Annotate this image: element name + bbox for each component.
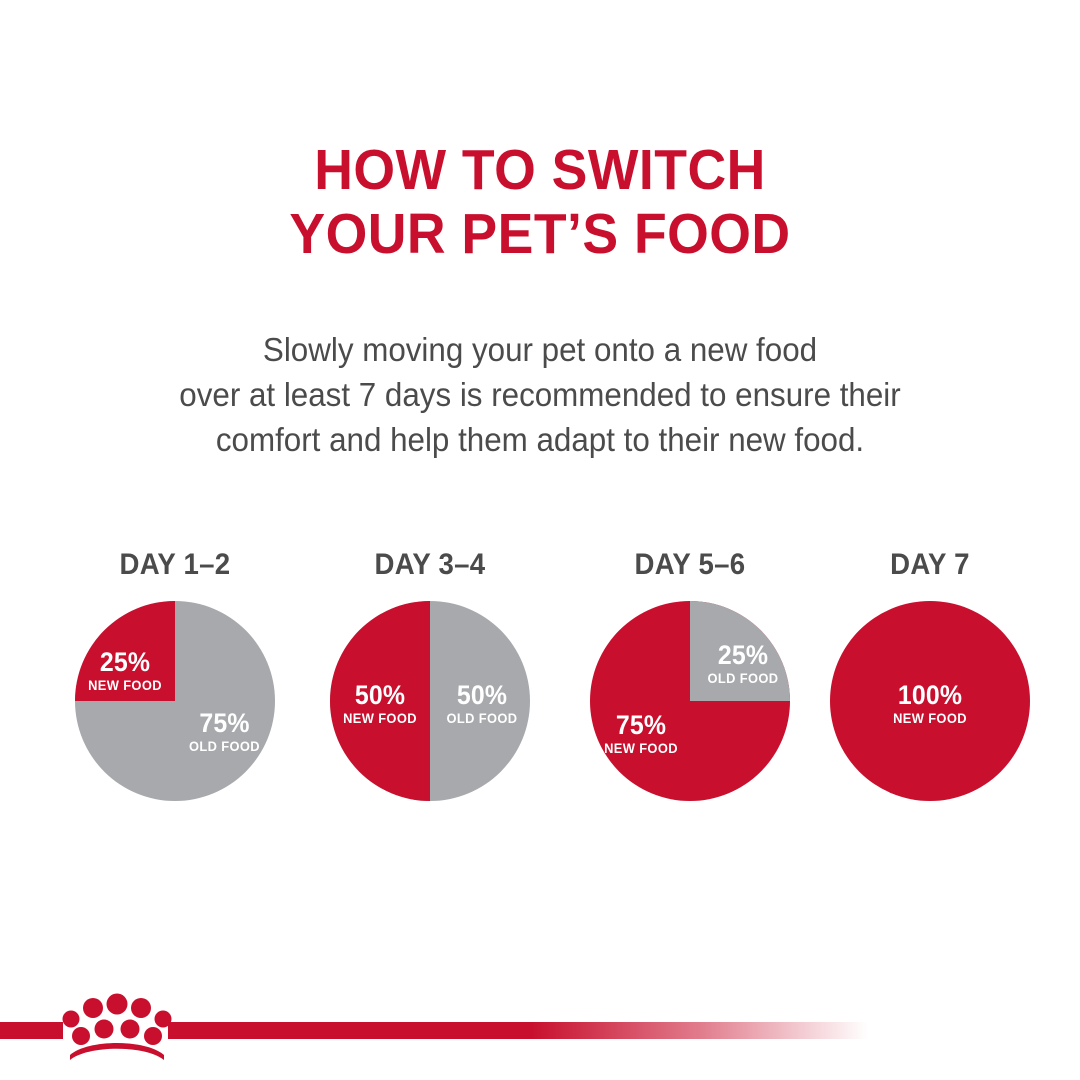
day-label-2: DAY 3–4 [310,548,549,582]
footer-bar-left [0,1022,63,1039]
crown-icon [62,992,172,1060]
day-label-3: DAY 5–6 [570,548,809,582]
pie-group-day-3-4: DAY 3–4 50% NEW FOOD 50% OLD FOOD [300,548,560,838]
day-label-4: DAY 7 [810,548,1049,582]
pie-chart-row: DAY 1–2 25% NEW FOOD 75% OLD FOOD DAY 3–… [0,548,1080,838]
page-title-line-2: YOUR PET’S FOOD [32,202,1047,266]
intro-line-2: over at least 7 days is recommended to e… [65,372,1015,417]
pie-chart-day-1-2: 25% NEW FOOD 75% OLD FOOD [75,601,275,801]
intro-line-3: comfort and help them adapt to their new… [65,417,1015,462]
pie-svg-day-3-4 [330,601,530,801]
footer-bar-right [168,1022,868,1039]
intro-line-1: Slowly moving your pet onto a new food [65,327,1015,372]
pie-slice-new-food [75,601,175,701]
pie-svg-day-7 [830,601,1030,801]
pie-group-day-7: DAY 7 100% NEW FOOD [800,548,1060,838]
pie-svg-day-1-2 [75,601,275,801]
page-title: HOW TO SWITCH YOUR PET’S FOOD [0,138,1080,266]
pie-slice-new-food [330,601,430,801]
pie-chart-day-5-6: 25% OLD FOOD 75% NEW FOOD [590,601,790,801]
pie-svg-day-5-6 [590,601,790,801]
page-title-line-1: HOW TO SWITCH [32,138,1047,202]
crown-icon-svg [62,992,172,1060]
intro-paragraph: Slowly moving your pet onto a new food o… [40,327,1040,462]
day-label-1: DAY 1–2 [55,548,294,582]
pie-slice-new-food [830,601,1030,801]
infographic-page: HOW TO SWITCH YOUR PET’S FOOD Slowly mov… [0,0,1080,1080]
pie-slice-old-food [690,601,790,701]
pie-group-day-1-2: DAY 1–2 25% NEW FOOD 75% OLD FOOD [45,548,305,838]
pie-chart-day-7: 100% NEW FOOD [830,601,1030,801]
footer-brand-bar [0,970,1080,1080]
pie-chart-day-3-4: 50% NEW FOOD 50% OLD FOOD [330,601,530,801]
pie-group-day-5-6: DAY 5–6 25% OLD FOOD 75% NEW FOOD [560,548,820,838]
